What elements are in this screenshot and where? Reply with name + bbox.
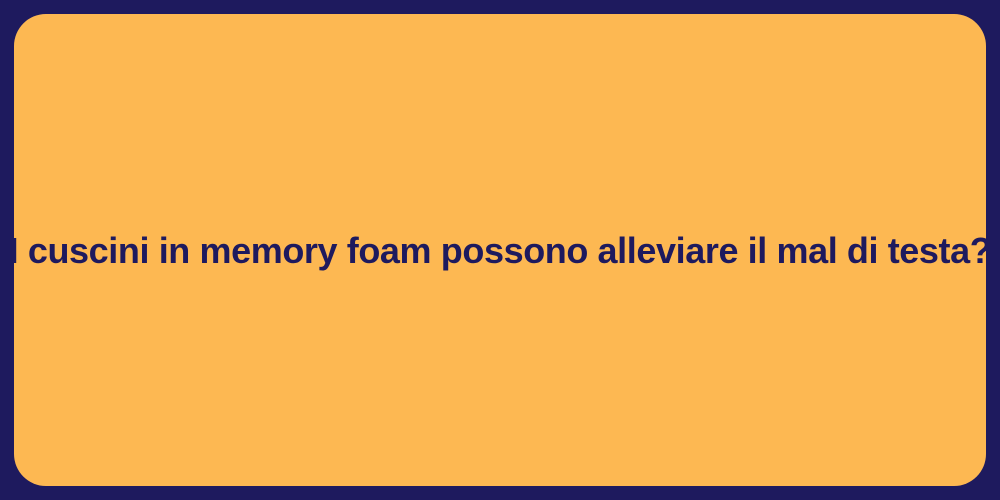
card-frame: I cuscini in memory foam possono allevia…	[0, 0, 1000, 500]
question-headline: I cuscini in memory foam possono allevia…	[9, 228, 992, 273]
question-card-panel: I cuscini in memory foam possono allevia…	[14, 14, 986, 486]
